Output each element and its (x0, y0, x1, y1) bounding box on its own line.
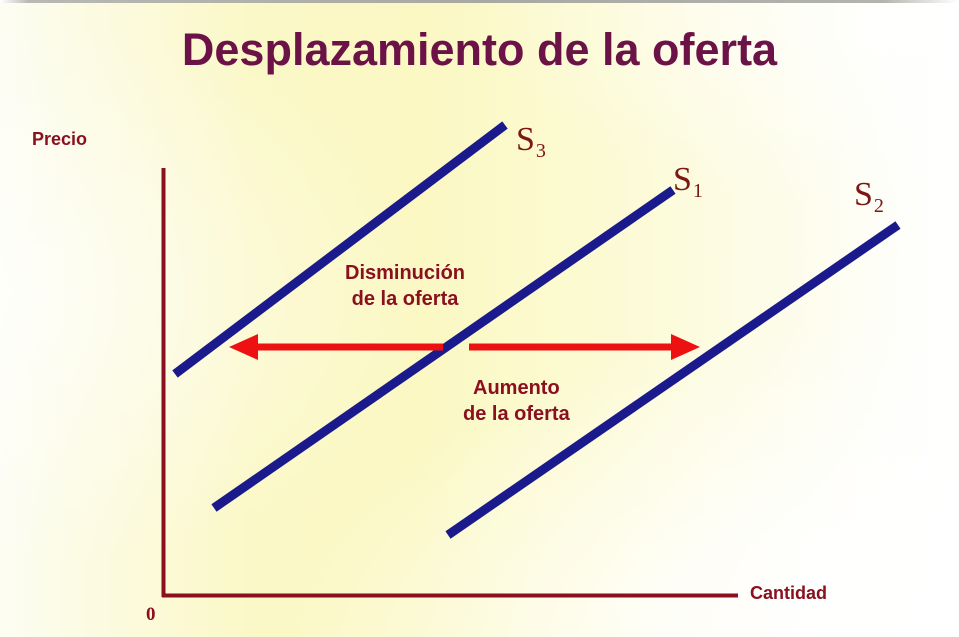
increase-annotation: Aumento de la oferta (463, 376, 570, 427)
slide-canvas: Desplazamiento de la oferta Precio Canti… (0, 0, 959, 637)
arrows-layer (0, 0, 959, 637)
decrease-annotation: Disminución de la oferta (345, 261, 465, 312)
increase-arrow (469, 334, 700, 360)
decrease-arrow (229, 334, 443, 360)
decrease-annotation-line2: de la oferta (345, 287, 465, 313)
increase-annotation-line2: de la oferta (463, 402, 570, 428)
decrease-annotation-line1: Disminución (345, 261, 465, 287)
increase-annotation-line1: Aumento (463, 376, 570, 402)
